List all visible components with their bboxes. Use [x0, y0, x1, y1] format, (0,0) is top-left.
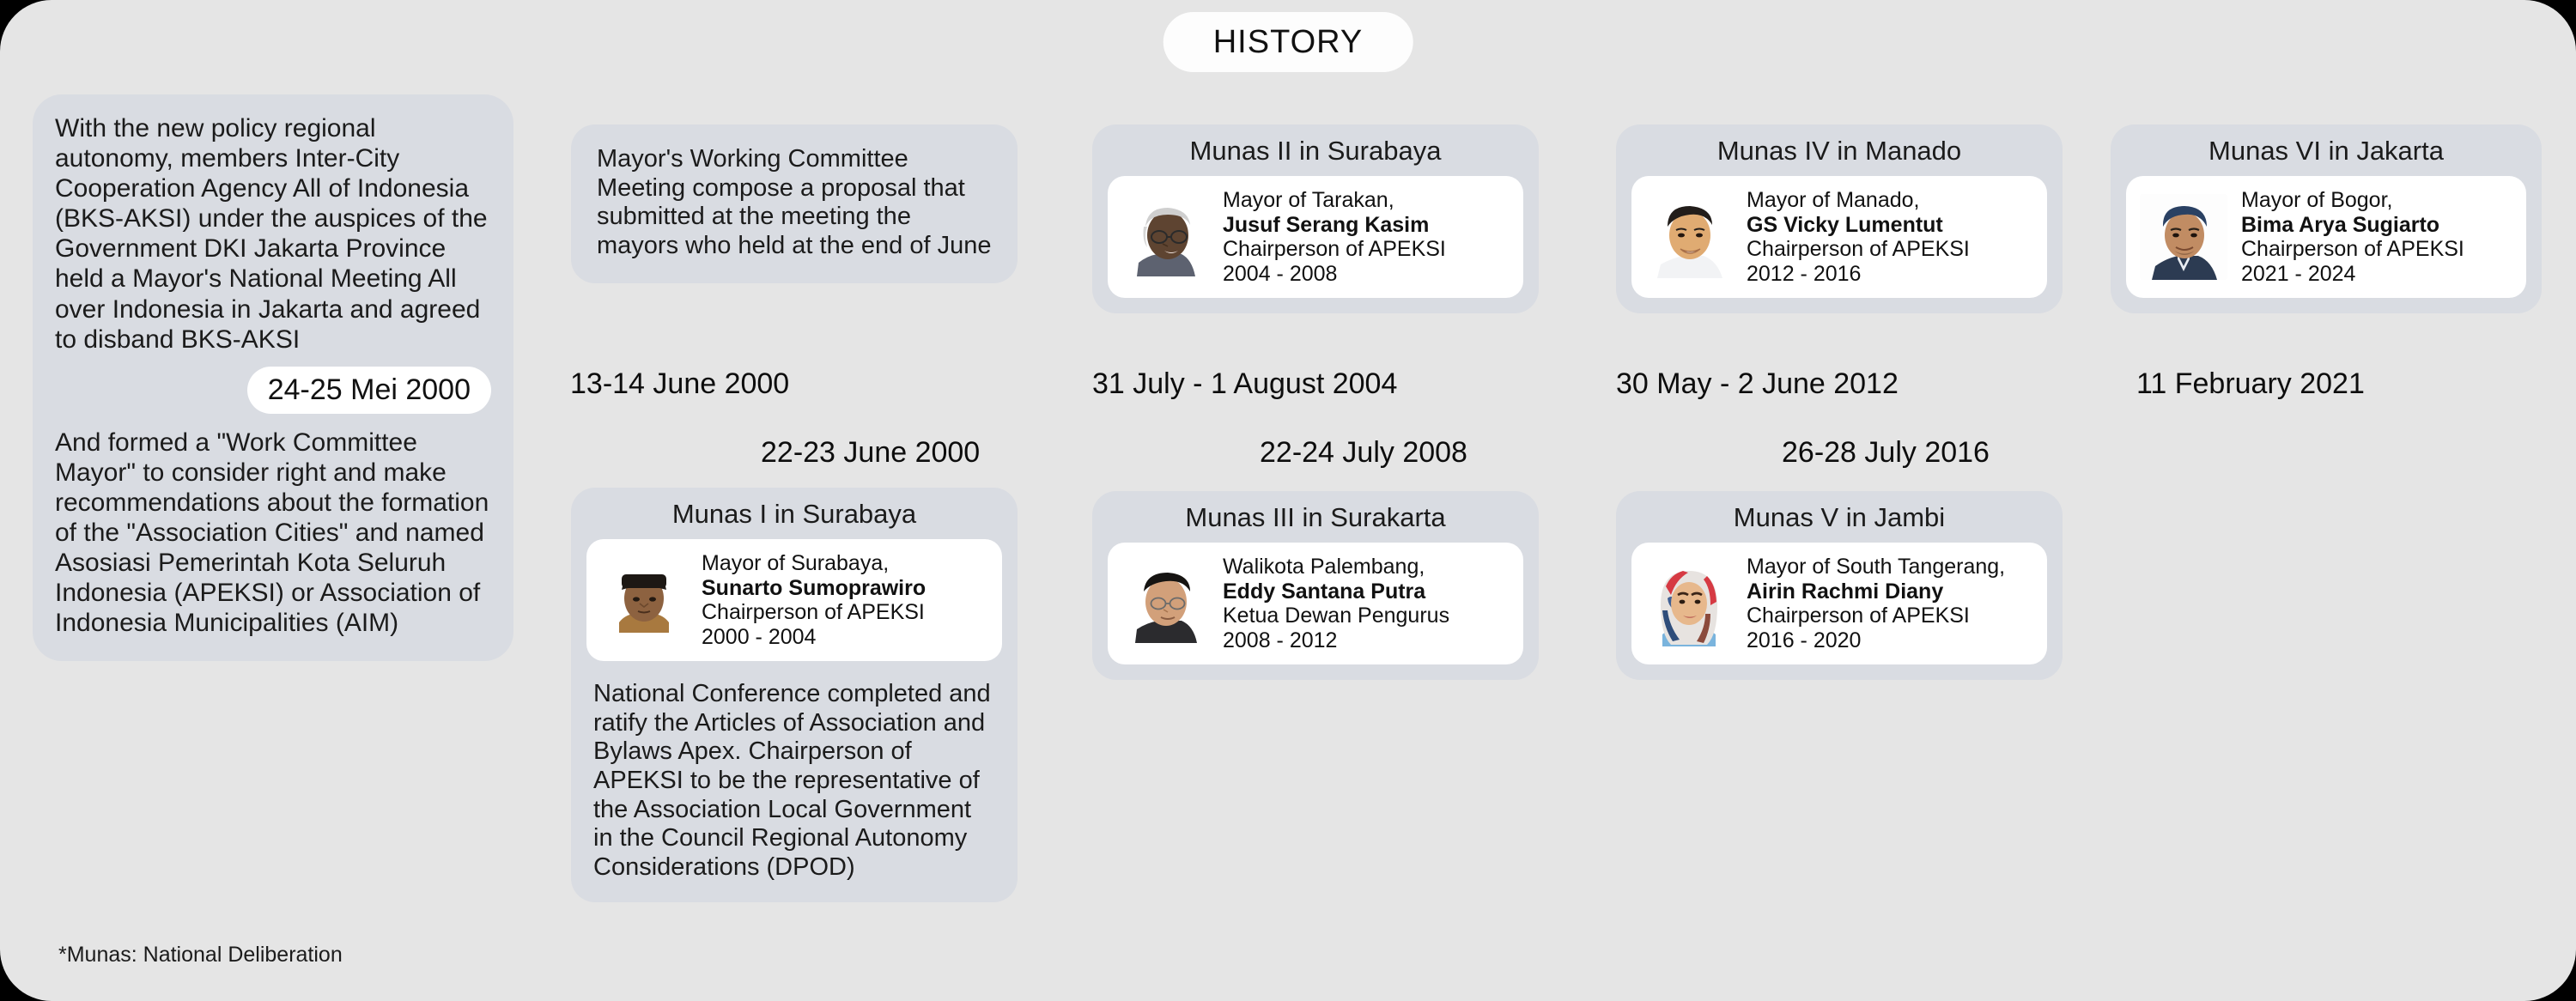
munas-4-person-name: GS Vicky Lumentut	[1747, 213, 1970, 238]
munas-3-person-box: Walikota Palembang, Eddy Santana Putra K…	[1108, 543, 1523, 664]
munas-3-person-lines: Walikota Palembang, Eddy Santana Putra K…	[1223, 555, 1449, 652]
munas-4-person-role: Mayor of Manado,	[1747, 188, 1970, 213]
munas-2-title: Munas II in Surabaya	[1092, 124, 1539, 176]
munas-1-person-name: Sunarto Sumoprawiro	[702, 576, 926, 601]
portrait-eddy-santana-putra	[1121, 561, 1209, 646]
card-munas-5: Munas V in Jambi	[1616, 491, 2063, 680]
timeline-date-2008-07-22: 22-24 July 2008	[1260, 438, 1467, 467]
intro-date-pill: 24-25 Mei 2000	[247, 367, 491, 414]
munas-2-person-name: Jusuf Serang Kasim	[1223, 213, 1446, 238]
munas-4-title: Munas IV in Manado	[1616, 124, 2063, 176]
munas-3-person-name: Eddy Santana Putra	[1223, 579, 1449, 604]
munas-2-person-lines: Mayor of Tarakan, Jusuf Serang Kasim Cha…	[1223, 188, 1446, 286]
munas-5-person-position: Chairperson of APEKSI	[1747, 604, 2005, 628]
munas-6-person-role: Mayor of Bogor,	[2241, 188, 2464, 213]
munas-3-title: Munas III in Surakarta	[1092, 491, 1539, 543]
card-munas-6: Munas VI in Jakarta Mayor o	[2111, 124, 2542, 313]
munas-6-person-term: 2021 - 2024	[2241, 262, 2464, 287]
timeline-date-2012-05-30: 30 May - 2 June 2012	[1616, 369, 1899, 398]
munas-6-title: Munas VI in Jakarta	[2111, 124, 2542, 176]
munas-5-title: Munas V in Jambi	[1616, 491, 2063, 543]
history-timeline-page: HISTORY With the new policy regional aut…	[0, 0, 2576, 1001]
timeline-date-2004-07-31: 31 July - 1 August 2004	[1092, 369, 1397, 398]
munas-6-person-box: Mayor of Bogor, Bima Arya Sugiarto Chair…	[2126, 176, 2526, 298]
munas-5-person-box: Mayor of South Tangerang, Airin Rachmi D…	[1631, 543, 2047, 664]
munas-4-person-position: Chairperson of APEKSI	[1747, 237, 1970, 262]
portrait-airin-rachmi-diany	[1645, 561, 1733, 646]
munas-6-person-position: Chairperson of APEKSI	[2241, 237, 2464, 262]
munas-2-person-position: Chairperson of APEKSI	[1223, 237, 1446, 262]
munas-1-person-position: Chairperson of APEKSI	[702, 600, 926, 625]
intro-panel: With the new policy regional autonomy, m…	[33, 94, 513, 661]
munas-2-person-box: Mayor of Tarakan, Jusuf Serang Kasim Cha…	[1108, 176, 1523, 298]
portrait-sunarto-sumoprawiro	[600, 557, 688, 643]
munas-6-person-name: Bima Arya Sugiarto	[2241, 213, 2464, 238]
munas-5-person-name: Airin Rachmi Diany	[1747, 579, 2005, 604]
card-munas-1: Munas I in Surabaya Mayor of Surabaya, S…	[571, 488, 1018, 902]
munas-3-person-term: 2008 - 2012	[1223, 628, 1449, 653]
munas-4-person-term: 2012 - 2016	[1747, 262, 1970, 287]
timeline-date-2016-07-26: 26-28 July 2016	[1782, 438, 1990, 467]
munas-1-person-term: 2000 - 2004	[702, 625, 926, 650]
munas-4-person-lines: Mayor of Manado, GS Vicky Lumentut Chair…	[1747, 188, 1970, 286]
munas-1-person-role: Mayor of Surabaya,	[702, 551, 926, 576]
intro-paragraph-2: And formed a "Work Committee Mayor" to c…	[55, 428, 491, 639]
munas-5-person-term: 2016 - 2020	[1747, 628, 2005, 653]
card-munas-4: Munas IV in Manado Mayor of Manado, GS V…	[1616, 124, 2063, 313]
munas-3-person-role: Walikota Palembang,	[1223, 555, 1449, 579]
munas-5-person-role: Mayor of South Tangerang,	[1747, 555, 2005, 579]
intro-paragraph-1: With the new policy regional autonomy, m…	[55, 113, 491, 355]
timeline-date-2021-02-11: 11 February 2021	[2136, 369, 2365, 398]
munas-6-person-lines: Mayor of Bogor, Bima Arya Sugiarto Chair…	[2241, 188, 2464, 286]
munas-1-title: Munas I in Surabaya	[571, 488, 1018, 539]
munas-2-person-role: Mayor of Tarakan,	[1223, 188, 1446, 213]
portrait-gs-vicky-lumentut	[1645, 194, 1733, 280]
card-munas-3: Munas III in Surakarta Walikota Palemban…	[1092, 491, 1539, 680]
munas-5-person-lines: Mayor of South Tangerang, Airin Rachmi D…	[1747, 555, 2005, 652]
card-munas-2: Munas II in Surabaya Mayor of Tarakan,	[1092, 124, 1539, 313]
timeline-date-2000-06-13: 13-14 June 2000	[570, 369, 789, 398]
timeline-date-2000-06-22: 22-23 June 2000	[761, 438, 980, 467]
portrait-bima-arya-sugiarto	[2140, 194, 2227, 280]
intro-date-pill-row: 24-25 Mei 2000	[55, 367, 491, 414]
working-committee-text: Mayor's Working Committee Meeting compos…	[571, 124, 1018, 283]
munas-1-person-box: Mayor of Surabaya, Sunarto Sumoprawiro C…	[586, 539, 1002, 661]
munas-1-person-lines: Mayor of Surabaya, Sunarto Sumoprawiro C…	[702, 551, 926, 649]
munas-3-person-position: Ketua Dewan Pengurus	[1223, 604, 1449, 628]
page-title: HISTORY	[1163, 12, 1413, 72]
footnote: *Munas: National Deliberation	[58, 943, 343, 968]
munas-1-note: National Conference completed and ratify…	[571, 676, 1018, 902]
munas-4-person-box: Mayor of Manado, GS Vicky Lumentut Chair…	[1631, 176, 2047, 298]
munas-2-person-term: 2004 - 2008	[1223, 262, 1446, 287]
card-working-committee: Mayor's Working Committee Meeting compos…	[571, 124, 1018, 283]
portrait-jusuf-serang-kasim	[1121, 194, 1209, 280]
